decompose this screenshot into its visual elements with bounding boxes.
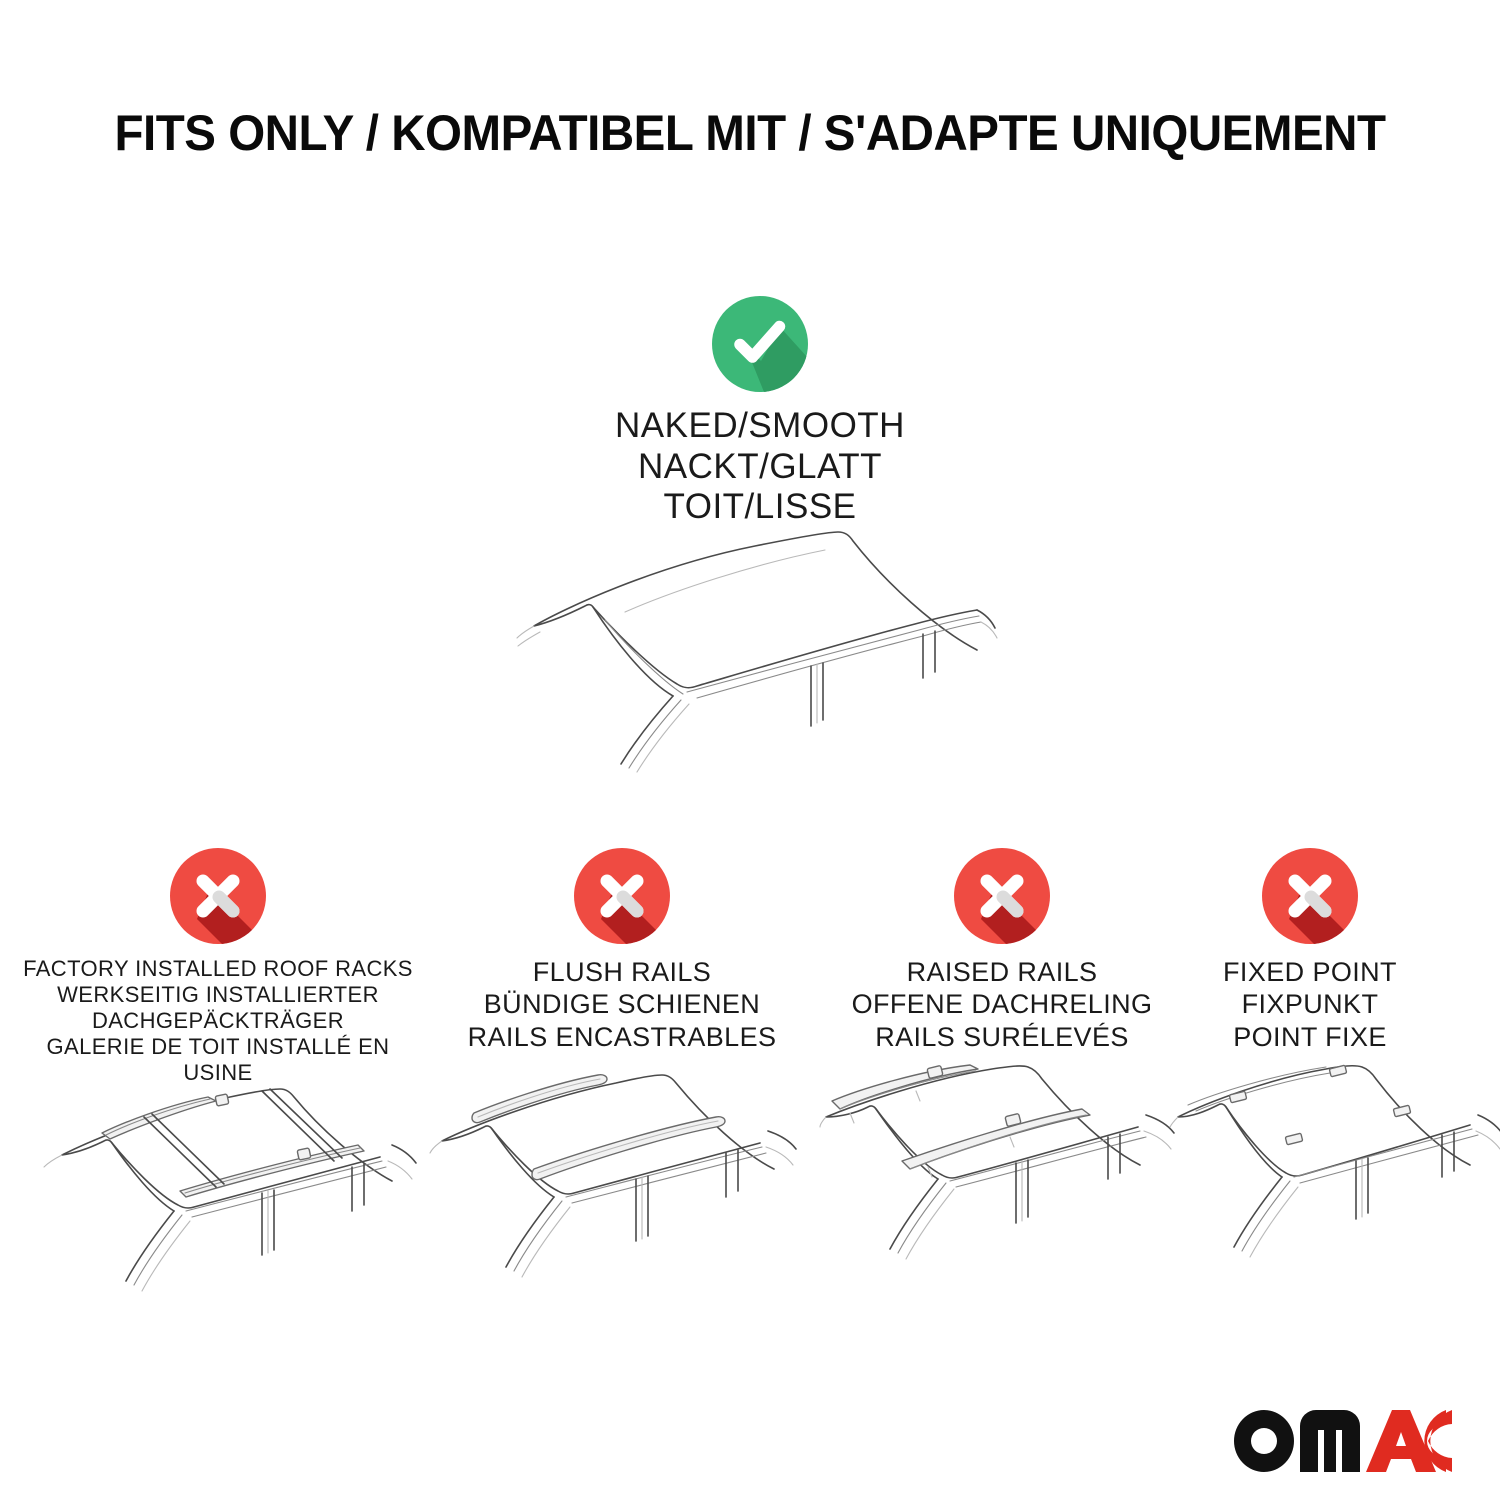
page-title: FITS ONLY / KOMPATIBEL MIT / S'ADAPTE UN… [38, 104, 1463, 162]
badge-wrap [18, 848, 418, 944]
car-roof-raised-rails-illustration [820, 1065, 1220, 1295]
label-de: FIXPUNKT [1160, 988, 1460, 1020]
compatible-labels: NAKED/SMOOTH NACKT/GLATT TOIT/LISSE [510, 406, 1010, 528]
cross-icon [1262, 848, 1358, 944]
cross-badge [1262, 848, 1358, 944]
car-roof-factory-roof-racks-illustration [40, 1065, 460, 1295]
check-icon [712, 296, 808, 392]
label-en: FACTORY INSTALLED ROOF RACKS [18, 956, 418, 982]
incompatible-labels: FIXED POINT FIXPUNKT POINT FIXE [1160, 956, 1460, 1053]
badge-wrap [432, 848, 812, 944]
car-roof-naked-smooth-illustration [505, 520, 1025, 800]
incompatible-labels: RAISED RAILS OFFENE DACHRELING RAILS SUR… [812, 956, 1192, 1053]
incompatible-group-flush-rails: FLUSH RAILS BÜNDIGE SCHIENEN RAILS ENCAS… [432, 848, 812, 1053]
omac-logo [1232, 1408, 1452, 1474]
label-en: RAISED RAILS [812, 956, 1192, 988]
label-fr: POINT FIXE [1160, 1021, 1460, 1053]
cross-icon [954, 848, 1050, 944]
label-en: FIXED POINT [1160, 956, 1460, 988]
label-fr: RAILS SURÉLEVÉS [812, 1021, 1192, 1053]
compatible-label-de: NACKT/GLATT [510, 447, 1010, 488]
compatible-group: NAKED/SMOOTH NACKT/GLATT TOIT/LISSE [510, 296, 1010, 528]
badge-wrap [812, 848, 1192, 944]
cross-icon [170, 848, 266, 944]
incompatible-group-raised-rails: RAISED RAILS OFFENE DACHRELING RAILS SUR… [812, 848, 1192, 1053]
label-de-2: DACHGEPÄCKTRÄGER [18, 1008, 418, 1034]
cross-badge [170, 848, 266, 944]
cross-icon [574, 848, 670, 944]
label-de: BÜNDIGE SCHIENEN [432, 988, 812, 1020]
badge-wrap [1160, 848, 1460, 944]
cross-badge [574, 848, 670, 944]
label-de-1: WERKSEITIG INSTALLIERTER [18, 982, 418, 1008]
label-de: OFFENE DACHRELING [812, 988, 1192, 1020]
incompatible-group-fixed-point: FIXED POINT FIXPUNKT POINT FIXE [1160, 848, 1460, 1053]
check-badge [712, 296, 808, 392]
compatible-label-en: NAKED/SMOOTH [510, 406, 1010, 447]
label-en: FLUSH RAILS [432, 956, 812, 988]
incompatible-labels: FLUSH RAILS BÜNDIGE SCHIENEN RAILS ENCAS… [432, 956, 812, 1053]
incompatible-group-factory-roof-racks: FACTORY INSTALLED ROOF RACKS WERKSEITIG … [18, 848, 418, 1086]
label-fr: RAILS ENCASTRABLES [432, 1021, 812, 1053]
cross-badge [954, 848, 1050, 944]
car-roof-flush-rails-illustration [430, 1065, 830, 1295]
car-roof-fixed-point-illustration [1170, 1065, 1500, 1295]
